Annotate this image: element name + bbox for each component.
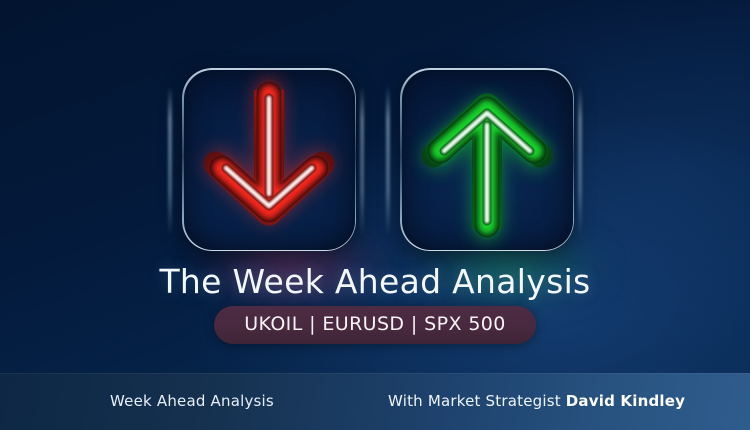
footer-series-label: Week Ahead Analysis	[110, 392, 274, 410]
page-title: The Week Ahead Analysis	[0, 262, 750, 301]
footer-presenter-name: David Kindley	[566, 392, 685, 410]
down-arrow-icon	[182, 68, 356, 251]
footer-presenter-prefix: With Market Strategist	[388, 392, 566, 410]
footer-presenter: With Market Strategist David Kindley	[388, 392, 685, 410]
instrument-badge: UKOIL | EURUSD | SPX 500	[214, 306, 536, 344]
footer-bar: Week Ahead Analysis With Market Strategi…	[0, 373, 750, 430]
card-edge-glint	[168, 86, 172, 236]
banner-canvas: The Week Ahead Analysis UKOIL | EURUSD |…	[0, 0, 750, 430]
card-edge-glint	[578, 86, 582, 236]
instrument-badge-wrapper: UKOIL | EURUSD | SPX 500	[0, 306, 750, 344]
up-arrow-icon	[400, 68, 574, 251]
card-edge-glint	[386, 86, 390, 236]
bearish-icon-card	[182, 68, 356, 251]
card-edge-glint	[360, 86, 364, 236]
bullish-icon-card	[400, 68, 574, 251]
